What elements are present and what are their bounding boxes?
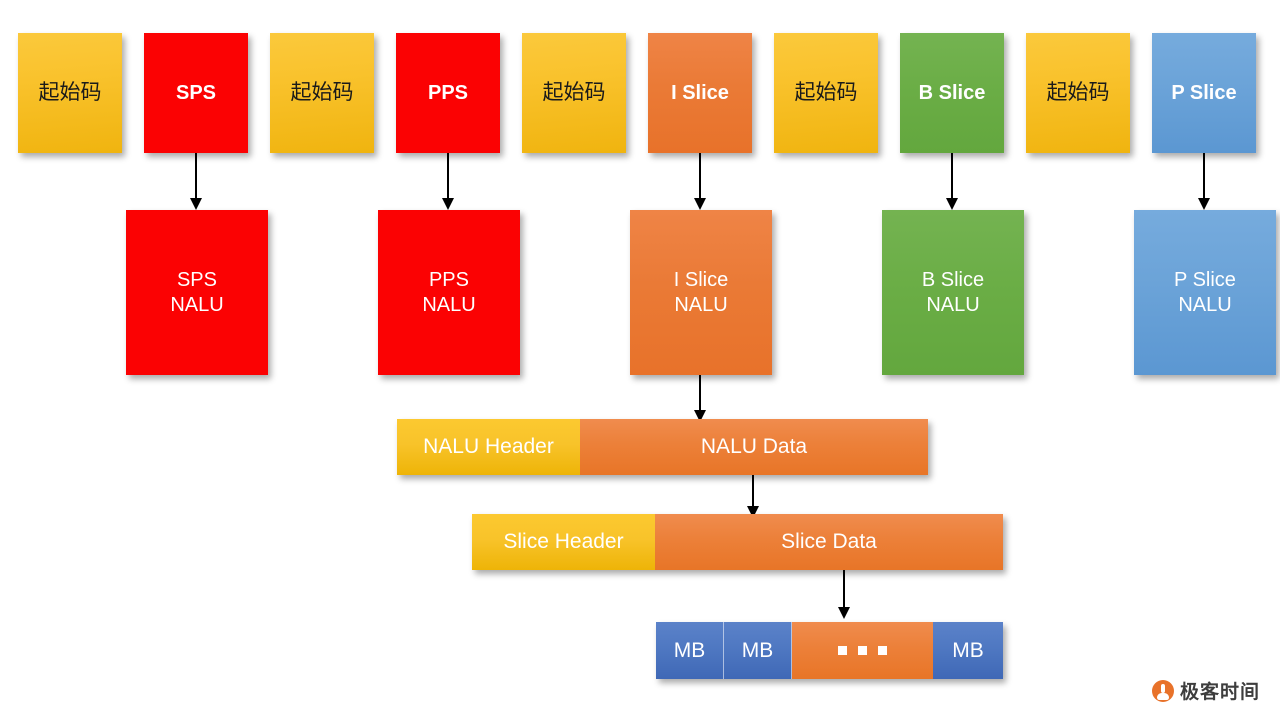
watermark: 极客时间	[1152, 677, 1260, 704]
macroblock-strip: MB MB MB	[656, 622, 1003, 679]
arrow-pps-to-nalu	[428, 153, 468, 211]
ellipsis-dot-1	[838, 646, 847, 655]
nalu-box-b-slice: B Slice NALU	[882, 210, 1024, 375]
nalu-box-pps: PPS NALU	[378, 210, 520, 375]
arrow-nalu-to-nalu-bar	[680, 375, 720, 423]
stream-box-b-slice: B Slice	[900, 33, 1004, 153]
ellipsis-dot-2	[858, 646, 867, 655]
nalu-box-p-slice: P Slice NALU	[1134, 210, 1276, 375]
ellipsis-dot-3	[878, 646, 887, 655]
macroblock-ellipsis	[792, 622, 933, 679]
stream-box-p-slice: P Slice	[1152, 33, 1256, 153]
arrow-sps-to-nalu	[176, 153, 216, 211]
stream-box-start-code-2: 起始码	[270, 33, 374, 153]
diagram-canvas: 起始码 SPS 起始码 PPS 起始码 I Slice 起始码 B Slice …	[0, 0, 1280, 720]
stream-box-sps: SPS	[144, 33, 248, 153]
stream-box-start-code-3: 起始码	[522, 33, 626, 153]
nalu-box-sps: SPS NALU	[126, 210, 268, 375]
slice-header-segment: Slice Header	[472, 514, 655, 570]
arrow-slice-data-to-macroblocks	[824, 570, 864, 620]
stream-box-start-code-4: 起始码	[774, 33, 878, 153]
stream-box-start-code-5: 起始码	[1026, 33, 1130, 153]
macroblock-cell-last: MB	[933, 622, 1003, 679]
stream-box-pps: PPS	[396, 33, 500, 153]
nalu-header-segment: NALU Header	[397, 419, 580, 475]
stream-box-start-code-1: 起始码	[18, 33, 122, 153]
macroblock-cell-2: MB	[724, 622, 792, 679]
arrow-nalu-data-to-slice-bar	[733, 475, 773, 519]
nalu-structure-bar: NALU Header NALU Data	[397, 419, 928, 475]
slice-data-segment: Slice Data	[655, 514, 1003, 570]
watermark-label: 极客时间	[1180, 677, 1260, 704]
arrow-p-slice-to-nalu	[1184, 153, 1224, 211]
stream-box-i-slice: I Slice	[648, 33, 752, 153]
arrow-b-slice-to-nalu	[932, 153, 972, 211]
nalu-data-segment: NALU Data	[580, 419, 928, 475]
slice-structure-bar: Slice Header Slice Data	[472, 514, 1003, 570]
geektime-logo-icon	[1152, 680, 1174, 702]
arrow-i-slice-to-nalu	[680, 153, 720, 211]
nalu-box-i-slice: I Slice NALU	[630, 210, 772, 375]
macroblock-cell-1: MB	[656, 622, 724, 679]
